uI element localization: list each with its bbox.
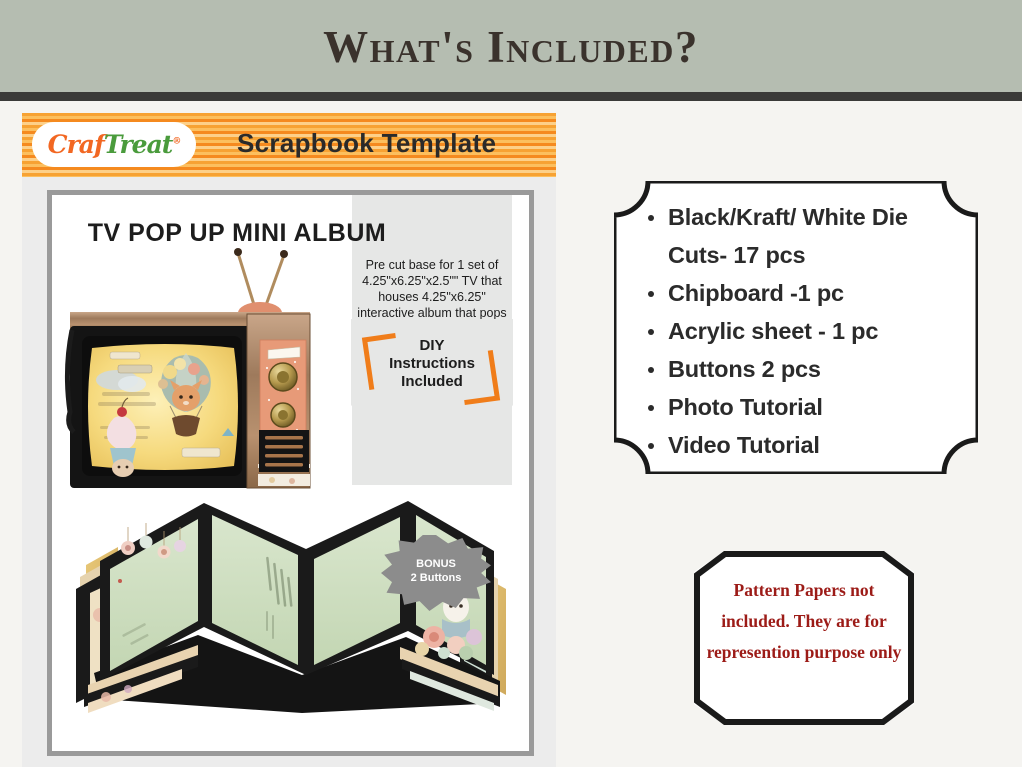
retro-tv-album-image [62,240,362,490]
brand-logo-part-two: Treat [104,130,173,159]
included-items-box: Black/Kraft/ White Die Cuts- 17 pcs Chip… [614,181,978,474]
diy-line-1: DIY [419,337,444,354]
bonus-badge: BONUS 2 Buttons [381,535,491,611]
included-items-list: Black/Kraft/ White Die Cuts- 17 pcs Chip… [646,198,956,464]
diy-instructions-badge: DIY Instructions Included [351,319,513,439]
bonus-badge-text: BONUS 2 Buttons [381,557,491,585]
diy-line-2: Instructions [389,355,475,372]
brand-logo: CrafTreat® [32,122,196,167]
brand-banner-title: Scrapbook Template [237,128,496,159]
list-item: Photo Tutorial [646,388,956,426]
infographic-page: What's Included? CrafTreat® Scrapbook Te… [0,0,1022,767]
product-card: CrafTreat® Scrapbook Template [22,113,556,767]
disclaimer-text: Pattern Papers not included. They are fo… [703,575,905,668]
brand-logo-text: CrafTreat® [48,130,181,159]
trademark-symbol: ® [172,137,180,147]
list-item: Chipboard -1 pc [646,274,956,312]
product-image-frame: TV POP UP MINI ALBUM Pre cut base for 1 … [47,190,534,756]
product-title: TV POP UP MINI ALBUM [52,219,422,248]
diy-line-3: Included [401,373,463,390]
list-item: Black/Kraft/ White Die Cuts- 17 pcs [646,198,956,274]
header-band: What's Included? [0,0,1022,101]
bonus-line-2: 2 Buttons [411,572,462,584]
bonus-line-1: BONUS [416,558,456,570]
brand-banner: CrafTreat® Scrapbook Template [22,113,556,177]
diy-badge-text: DIY Instructions Included [365,337,499,391]
list-item: Video Tutorial [646,426,956,464]
disclaimer-box: Pattern Papers not included. They are fo… [694,551,914,725]
page-title: What's Included? [0,21,1022,73]
list-item: Buttons 2 pcs [646,350,956,388]
brand-logo-part-one: Craf [48,130,104,159]
list-item: Acrylic sheet - 1 pc [646,312,956,350]
